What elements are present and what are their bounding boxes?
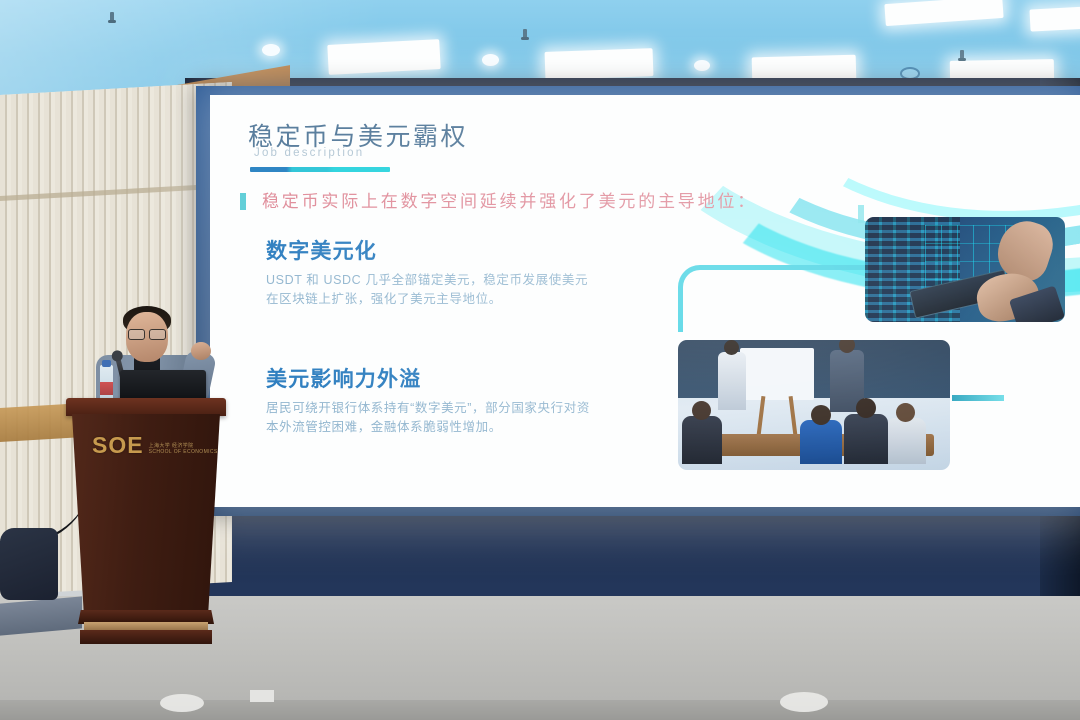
ceiling-downlight bbox=[482, 54, 499, 66]
podium-logo-subtext: 上海大学 经济学院 SCHOOL OF ECONOMICS bbox=[149, 443, 218, 460]
seated-person bbox=[682, 416, 722, 464]
podium-logo-text: SOE bbox=[92, 432, 144, 459]
headline-bullet-tick bbox=[240, 193, 246, 210]
podium-logo: SOE 上海大学 经济学院 SCHOOL OF ECONOMICS bbox=[92, 432, 218, 459]
ceiling-downlight bbox=[694, 60, 710, 71]
flipchart-board bbox=[740, 348, 814, 400]
slide-subtitle: Job description bbox=[254, 147, 364, 159]
ceiling-downlight bbox=[262, 44, 280, 56]
podium-logo-subtext-line2: SCHOOL OF ECONOMICS bbox=[149, 449, 218, 455]
data-center-tablet-photo bbox=[865, 217, 1065, 322]
water-bottle-label bbox=[100, 382, 113, 395]
business-meeting-photo bbox=[678, 340, 950, 470]
seated-person bbox=[800, 420, 842, 464]
ceiling-panel-light bbox=[327, 39, 440, 75]
seated-person bbox=[844, 414, 888, 464]
floor-bag bbox=[0, 528, 58, 600]
wall-baseboard bbox=[185, 505, 1080, 600]
content-block-2: 美元影响力外溢 居民可绕开银行体系持有“数字美元”，部分国家央行对资本外流管控困… bbox=[266, 363, 596, 438]
speaker-glasses bbox=[128, 329, 166, 338]
block-2-heading: 美元影响力外溢 bbox=[266, 363, 596, 393]
ceiling-panel-light bbox=[1029, 6, 1080, 31]
water-bottle-cap bbox=[102, 360, 111, 367]
content-block-1: 数字美元化 USDT 和 USDC 几乎全部锚定美元，稳定币发展使美元在区块链上… bbox=[266, 235, 596, 310]
standing-person bbox=[718, 352, 746, 410]
slide-connector-line bbox=[678, 265, 883, 332]
seated-person bbox=[886, 418, 926, 464]
sprinkler-head bbox=[523, 29, 527, 39]
block-2-body: 居民可绕开银行体系持有“数字美元”，部分国家央行对资本外流管控困难，金融体系脆弱… bbox=[266, 399, 596, 438]
podium-top-surface bbox=[66, 398, 226, 416]
slide-accent-tick bbox=[858, 205, 864, 223]
sprinkler-head bbox=[960, 50, 964, 60]
podium-logo-subtext-line1: 上海大学 经济学院 bbox=[149, 443, 194, 449]
floor-outlet-cover bbox=[160, 694, 204, 712]
sprinkler-head bbox=[110, 12, 114, 22]
title-underline-rule bbox=[250, 167, 390, 172]
ceiling-panel-light bbox=[545, 48, 654, 80]
presentation-slide[interactable]: 稳定币与美元霸权 Job description 稳定币实际上在数字空间延续并强… bbox=[210, 95, 1080, 507]
presentation-scene: 稳定币与美元霸权 Job description 稳定币实际上在数字空间延续并强… bbox=[0, 0, 1080, 720]
floor-marker bbox=[250, 690, 274, 702]
floor-outlet-cover bbox=[780, 692, 828, 712]
slide-accent-dash bbox=[952, 395, 1004, 401]
speaker-hand bbox=[191, 342, 211, 360]
podium-base-bottom bbox=[80, 630, 212, 644]
block-1-heading: 数字美元化 bbox=[266, 235, 596, 265]
block-1-body: USDT 和 USDC 几乎全部锚定美元，稳定币发展使美元在区块链上扩张，强化了… bbox=[266, 271, 596, 310]
slide-headline: 稳定币实际上在数字空间延续并强化了美元的主导地位： bbox=[262, 187, 757, 212]
